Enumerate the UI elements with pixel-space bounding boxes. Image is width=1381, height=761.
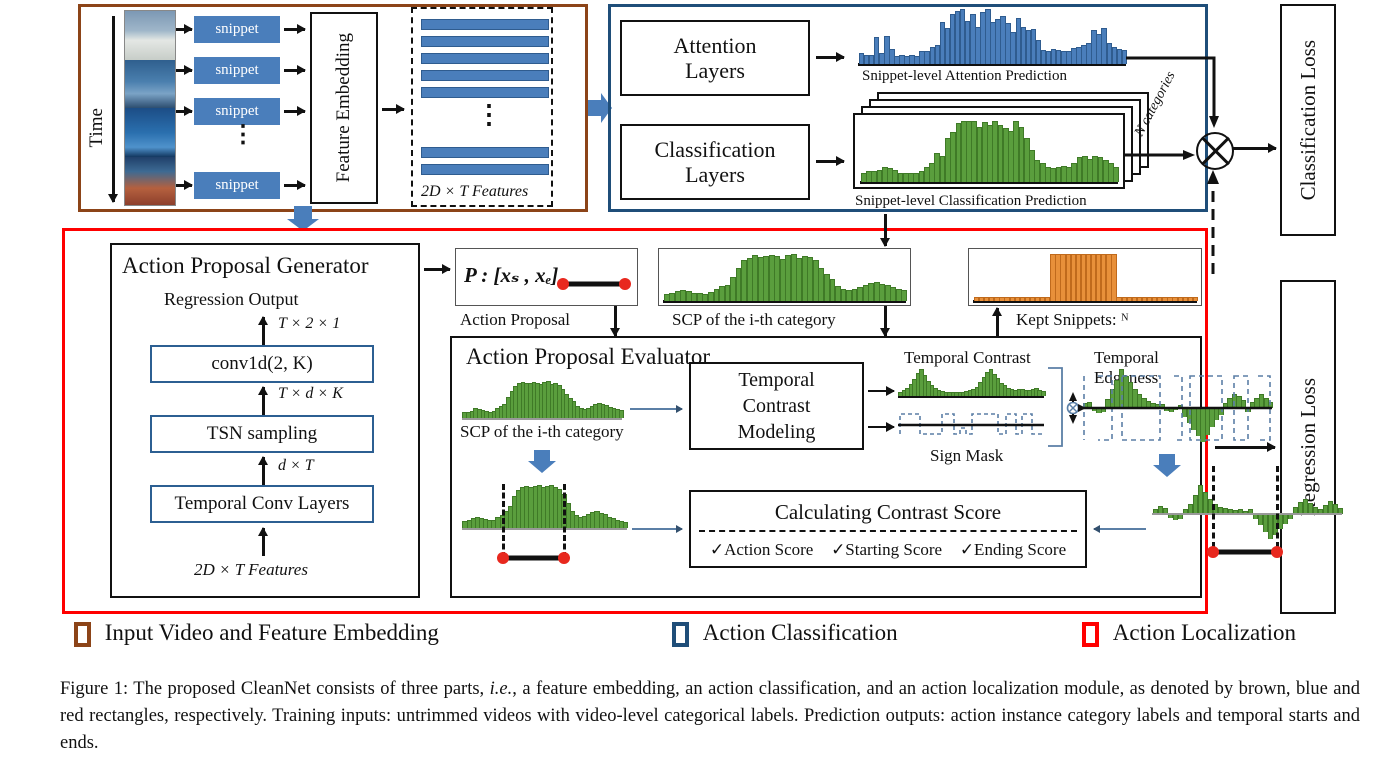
dim-in2-label: d × T xyxy=(278,457,314,475)
score-item-action: ✓Action Score xyxy=(710,540,813,560)
multiply-to-classification-loss-arrow xyxy=(1232,147,1276,150)
snippet-vertical-dots: ⋮ xyxy=(231,128,255,142)
proposal-start-boundary xyxy=(502,484,505,558)
edgeness-to-score-arrow xyxy=(1094,528,1146,530)
temporal-contrast-label: Temporal Contrast xyxy=(904,348,1031,368)
snippet-box: snippet xyxy=(194,57,280,84)
video-frame xyxy=(125,108,175,157)
evaluator-to-kept-arrow xyxy=(996,308,999,338)
time-label: Time xyxy=(86,108,108,147)
score-divider xyxy=(699,530,1077,532)
features-label: 2D × T Features xyxy=(421,183,528,201)
snippet-label: snippet xyxy=(215,21,258,38)
temporal-conv-layers-label: Temporal Conv Layers xyxy=(175,493,350,515)
feature-embedding-box: Feature Embedding xyxy=(310,12,378,204)
chart-bar xyxy=(619,410,624,418)
proposal-end-boundary xyxy=(563,484,566,558)
action-proposal-evaluator-title: Action Proposal Evaluator xyxy=(466,344,710,370)
evaluator-scp-chart xyxy=(462,380,622,420)
regression-output-label: Regression Output xyxy=(164,289,299,310)
time-axis-arrow xyxy=(112,16,115,202)
figure-caption: Figure 1: The proposed CleanNet consists… xyxy=(60,676,1360,756)
snippet-label: snippet xyxy=(215,177,258,194)
features-dashed-box: ⋮ 2D × T Features xyxy=(411,7,553,207)
action-proposal-box: P : [xₛ , xₑ] xyxy=(455,248,638,306)
snippet-to-embedding-arrow xyxy=(284,69,305,72)
legend-swatch-brown xyxy=(74,622,91,647)
snippet-level-attention-chart xyxy=(858,8,1126,66)
frame-to-snippet-arrow xyxy=(176,28,192,31)
chart-bar xyxy=(901,290,907,301)
embedding-to-features-arrow xyxy=(382,108,404,111)
proposal-start-boundary xyxy=(1212,466,1215,548)
tsn-to-conv-arrow xyxy=(262,387,265,415)
conv1d-label: conv1d(2, K) xyxy=(211,353,312,375)
chart-baseline xyxy=(462,418,622,420)
legend-label-blue: Action Classification xyxy=(703,620,898,645)
snippet-box: snippet xyxy=(194,172,280,199)
dim-mid-label: T × d × K xyxy=(278,385,343,403)
legend-item-brown: Input Video and Feature Embedding xyxy=(74,620,439,647)
evaluator-scp-caption-text: SCP of the i-th category xyxy=(460,422,624,441)
scp-top-caption: SCP of the i-th category xyxy=(672,310,836,330)
chart-bar xyxy=(623,522,628,528)
score-item-ending: ✓Ending Score xyxy=(960,540,1066,560)
caption-lead: Figure 1: The proposed CleanNet consists… xyxy=(60,679,490,699)
legend-label-brown: Input Video and Feature Embedding xyxy=(105,620,439,645)
kept-snippets-chart xyxy=(973,253,1197,303)
evaluator-scp-caption: SCP of the i-th category xyxy=(460,422,624,442)
proposal-to-score-arrow xyxy=(632,528,682,530)
classification-layers-label: Classification Layers xyxy=(645,137,785,188)
feature-bar xyxy=(421,87,549,98)
snippet-label: snippet xyxy=(215,103,258,120)
temporal-contrast-modeling-label: Temporal Contrast Modeling xyxy=(722,367,832,445)
frame-to-snippet-arrow xyxy=(176,110,192,113)
tsn-sampling-box: TSN sampling xyxy=(150,415,374,453)
classification-to-scp-arrow xyxy=(884,214,887,246)
temporal-edgeness-chart xyxy=(1082,368,1272,448)
legend-swatch-red xyxy=(1082,622,1099,647)
classification-loss-box: Classification Loss xyxy=(1280,4,1336,236)
snippet-to-embedding-arrow xyxy=(284,28,305,31)
action-proposal-formula: P : [xₛ , xₑ] xyxy=(464,263,558,287)
kept-snippets-box xyxy=(968,248,1202,306)
snippet-to-embedding-arrow xyxy=(284,110,305,113)
conv1d-box: conv1d(2, K) xyxy=(150,345,374,383)
attention-layers-box: Attention Layers xyxy=(620,20,810,96)
tconv-to-tsn-arrow xyxy=(262,457,265,485)
attention-chart-caption: Snippet-level Attention Prediction xyxy=(862,68,1067,85)
feature-bar xyxy=(421,53,549,64)
caption-ital: i.e. xyxy=(490,679,513,699)
tsn-sampling-label: TSN sampling xyxy=(207,423,317,445)
legend-item-red: Action Localization xyxy=(1082,620,1296,647)
video-frame xyxy=(125,157,175,206)
tcm-to-signmask-arrow xyxy=(868,426,894,428)
legend-label-red: Action Localization xyxy=(1113,620,1296,645)
feature-bar xyxy=(421,19,549,30)
features-in-label: 2D × T Features xyxy=(194,560,308,580)
scp-down-arrow xyxy=(884,306,887,336)
frame-to-snippet-arrow xyxy=(176,184,192,187)
tcm-to-contrast-arrow xyxy=(868,390,894,392)
action-proposal-generator-box: Action Proposal Generator Regression Out… xyxy=(110,243,420,598)
feature-bar xyxy=(421,164,549,175)
chart-bar xyxy=(1193,297,1198,301)
sign-mask-waveform xyxy=(898,404,1044,446)
classification-to-chart-arrow xyxy=(816,160,844,163)
attention-layers-label: Attention Layers xyxy=(655,33,775,84)
action-proposal-caption: Action Proposal xyxy=(460,310,570,330)
feature-bar xyxy=(421,70,549,81)
chart-bar xyxy=(1218,407,1223,415)
chart-bar xyxy=(1111,254,1116,301)
chart-bar xyxy=(1338,508,1344,514)
proposal-boundary-chart-wrap xyxy=(462,484,627,558)
calculating-contrast-score-title: Calculating Contrast Score xyxy=(691,500,1085,524)
features-to-tconv-arrow xyxy=(262,528,265,556)
classification-to-multiply-path xyxy=(1125,148,1197,166)
snippet-label: snippet xyxy=(215,62,258,79)
generator-to-proposal-arrow xyxy=(424,268,450,271)
conv-to-output-arrow xyxy=(262,317,265,345)
dim-out-label: T × 2 × 1 xyxy=(278,315,340,333)
temporal-edgeness-chart-wrap xyxy=(1082,368,1272,448)
chart-bar xyxy=(1268,402,1273,408)
action-proposal-generator-title: Action Proposal Generator xyxy=(122,253,369,279)
temporal-contrast-modeling-box: Temporal Contrast Modeling xyxy=(689,362,864,450)
classification-chart-caption: Snippet-level Classification Prediction xyxy=(855,193,1087,210)
classification-front-panel xyxy=(853,113,1125,189)
kept-snippets-caption: Kept Snippets: ᴺ xyxy=(1016,310,1129,330)
feature-embedding-label: Feature Embedding xyxy=(333,33,355,182)
frame-to-snippet-arrow xyxy=(176,69,192,72)
snippet-to-embedding-arrow xyxy=(284,184,305,187)
chart-bar xyxy=(1041,391,1046,396)
attention-to-chart-arrow xyxy=(816,56,844,59)
chart-baseline xyxy=(462,528,627,530)
feature-bar xyxy=(421,36,549,47)
video-frame xyxy=(125,11,175,60)
edgeness-boundary-chart xyxy=(1152,484,1342,544)
score-item-starting: ✓Starting Score xyxy=(831,540,942,560)
kept-snippets-feedback-path xyxy=(1206,166,1222,281)
temporal-conv-layers-box: Temporal Conv Layers xyxy=(150,485,374,523)
video-filmstrip xyxy=(124,10,176,206)
scp-top-caption-text: SCP of the i-th category xyxy=(672,310,836,329)
calculating-contrast-score-box: Calculating Contrast Score ✓Action Score… xyxy=(689,490,1087,568)
regression-loss-box: Regression Loss xyxy=(1280,280,1336,614)
scp-top-box xyxy=(658,248,911,306)
legend-item-blue: Action Classification xyxy=(672,620,898,647)
scp-to-tcm-arrow xyxy=(630,408,682,410)
scp-top-chart xyxy=(663,253,906,303)
snippet-box: snippet xyxy=(194,16,280,43)
action-proposal-evaluator-box: Action Proposal Evaluator SCP of the i-t… xyxy=(450,336,1202,598)
video-frame xyxy=(125,60,175,109)
edgeness-boundary-chart-wrap xyxy=(1152,484,1342,558)
classification-layers-box: Classification Layers xyxy=(620,124,810,200)
feature-bar xyxy=(421,147,549,158)
edgeness-down-arrow xyxy=(1152,454,1182,483)
attention-to-multiply-path xyxy=(1126,54,1222,139)
chart-bar xyxy=(1113,167,1119,182)
proposal-down-arrow xyxy=(614,306,617,336)
scp-down-blue-arrow xyxy=(527,450,557,479)
snippet-level-classification-chart xyxy=(860,120,1118,184)
proposal-boundary-chart xyxy=(462,484,627,530)
sign-mask-label: Sign Mask xyxy=(930,446,1003,466)
score-items-row: ✓Action Score ✓Starting Score ✓Ending Sc… xyxy=(701,540,1075,560)
classification-loss-label: Classification Loss xyxy=(1296,40,1320,200)
snippet-box: snippet xyxy=(194,98,280,125)
legend-swatch-blue xyxy=(672,622,689,647)
features-vertical-dots: ⋮ xyxy=(476,107,502,123)
proposal-segment-icon xyxy=(556,277,632,296)
proposal-end-boundary xyxy=(1276,466,1279,548)
multiply-operator-icon xyxy=(1196,132,1234,170)
temporal-contrast-chart xyxy=(898,368,1044,398)
